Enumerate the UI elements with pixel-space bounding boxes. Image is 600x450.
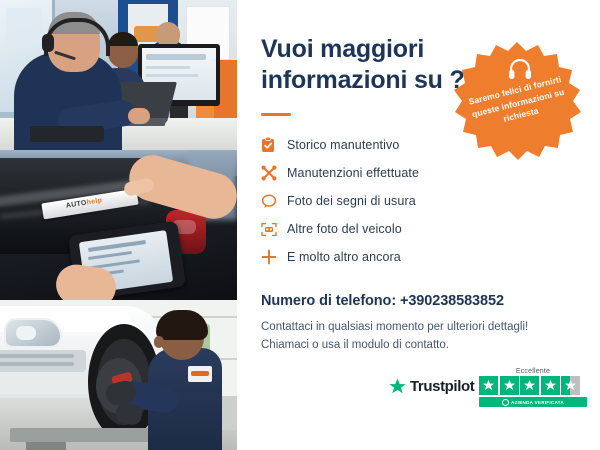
plus-icon	[261, 249, 287, 265]
photo-scan-icon	[261, 222, 287, 237]
trustpilot-name: Trustpilot	[410, 378, 474, 395]
list-item-label: E molto altro ancora	[287, 250, 401, 264]
content-panel: Vuoi maggiori informazioni su ? Saremo f…	[237, 0, 600, 450]
vehicle-inspection-photo: AUTOhelp	[0, 150, 237, 300]
star-icon	[520, 376, 539, 395]
list-item[interactable]: Manutenzioni effettuate	[261, 159, 511, 187]
star-icon-half	[561, 376, 580, 395]
trustpilot-widget[interactable]: Trustpilot Eccellente AZIENDA VERIFICATA	[389, 368, 589, 416]
clipboard-check-icon	[261, 137, 287, 153]
trustpilot-rating: Eccellente AZIENDA VERIFICATA	[479, 368, 587, 407]
speech-bubble-icon	[261, 194, 287, 209]
list-item[interactable]: E molto altro ancora	[261, 243, 511, 271]
verified-company-badge: AZIENDA VERIFICATA	[479, 397, 587, 407]
list-item-label: Altre foto del veicolo	[287, 222, 402, 236]
list-item-label: Storico manutentivo	[287, 138, 399, 152]
contact-info-card: AUTOhelp Vuoi maggiori	[0, 0, 600, 450]
phone-number[interactable]: Numero di telefono: +390238583852	[261, 293, 504, 309]
title-divider	[261, 113, 291, 116]
contact-line-1: Contattaci in qualsiasi momento per ulte…	[261, 318, 561, 336]
contact-line-2: Chiamaci o usa il modulo di contatto.	[261, 336, 561, 354]
trustpilot-star-icon	[389, 378, 406, 395]
list-item-label: Foto dei segni di usura	[287, 194, 416, 208]
verified-check-icon	[502, 399, 509, 406]
verified-label: AZIENDA VERIFICATA	[511, 400, 564, 405]
headset-icon	[508, 58, 532, 80]
photo-collage: AUTOhelp	[0, 0, 237, 450]
star-icon	[500, 376, 519, 395]
trustpilot-brand: Trustpilot	[389, 378, 474, 395]
tools-cross-icon	[261, 165, 287, 181]
star-icon	[479, 376, 498, 395]
call-center-photo	[0, 0, 237, 150]
list-item[interactable]: Foto dei segni di usura	[261, 187, 511, 215]
list-item[interactable]: Storico manutentivo	[261, 131, 511, 159]
contact-description: Contattaci in qualsiasi momento per ulte…	[261, 318, 561, 354]
rating-stars	[479, 376, 587, 395]
list-item[interactable]: Altre foto del veicolo	[261, 215, 511, 243]
star-icon	[541, 376, 560, 395]
mechanic-wheel-photo	[0, 300, 237, 450]
rating-label: Eccellente	[479, 368, 587, 375]
feature-list: Storico manutentivo Manutenzioni effettu…	[261, 131, 511, 271]
list-item-label: Manutenzioni effettuate	[287, 166, 419, 180]
